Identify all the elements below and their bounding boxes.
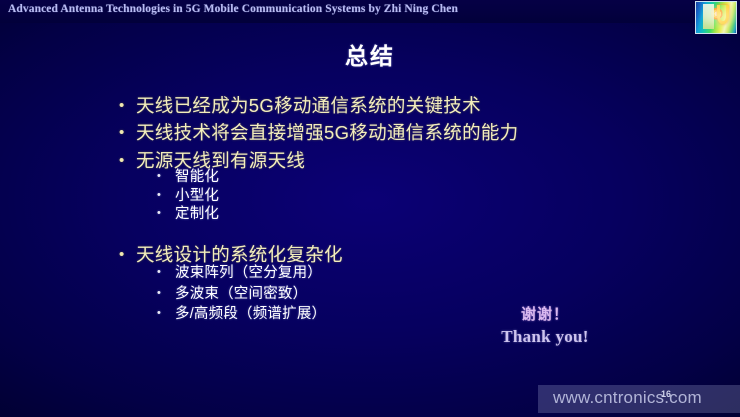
bullet-point-icon: • bbox=[157, 189, 175, 201]
bullet-point-icon: • bbox=[157, 307, 175, 319]
bullet-item-label: 天线技术将会直接增强5G移动通信系统的能力 bbox=[136, 122, 518, 143]
thank-you-chinese: 谢谢！ bbox=[470, 303, 620, 324]
bullet-item-label: 定制化 bbox=[175, 206, 219, 222]
bullet-item-level2: •多/高频段（频谱扩展） bbox=[157, 302, 326, 323]
bullet-point-icon: • bbox=[157, 266, 175, 278]
bullet-item-level2: •定制化 bbox=[157, 202, 219, 223]
bullet-point-icon: • bbox=[119, 246, 136, 263]
bullet-item-level2: •智能化 bbox=[157, 165, 219, 186]
slide-bullet-list: •天线已经成为5G移动通信系统的关键技术•天线技术将会直接增强5G移动通信系统的… bbox=[0, 0, 740, 417]
thank-you-block: 谢谢！ Thank you! bbox=[470, 303, 620, 347]
bullet-item-label: 多/高频段（频谱扩展） bbox=[175, 306, 326, 322]
bullet-item-label: 天线已经成为5G移动通信系统的关键技术 bbox=[136, 95, 481, 116]
bullet-point-icon: • bbox=[119, 124, 136, 141]
watermark-text: www.cntronics.com bbox=[553, 388, 702, 408]
bullet-item-level2: •波束阵列（空分复用） bbox=[157, 261, 322, 282]
thank-you-english: Thank you! bbox=[470, 327, 620, 347]
presentation-slide: Advanced Antenna Technologies in 5G Mobi… bbox=[0, 0, 740, 417]
bullet-point-icon: • bbox=[119, 152, 136, 169]
bullet-item-label: 智能化 bbox=[175, 169, 219, 185]
bullet-item-level1: •天线已经成为5G移动通信系统的关键技术 bbox=[119, 92, 481, 118]
bullet-item-level1: •天线技术将会直接增强5G移动通信系统的能力 bbox=[119, 119, 518, 145]
bullet-point-icon: • bbox=[157, 287, 175, 299]
bullet-item-label: 波束阵列（空分复用） bbox=[175, 265, 322, 281]
bullet-point-icon: • bbox=[119, 97, 136, 114]
slide-page-number: 16 bbox=[661, 389, 671, 399]
bullet-item-label: 多波束（空间密致） bbox=[175, 286, 307, 302]
bullet-point-icon: • bbox=[157, 207, 175, 219]
bullet-point-icon: • bbox=[157, 170, 175, 182]
bullet-item-level2: •多波束（空间密致） bbox=[157, 282, 307, 303]
